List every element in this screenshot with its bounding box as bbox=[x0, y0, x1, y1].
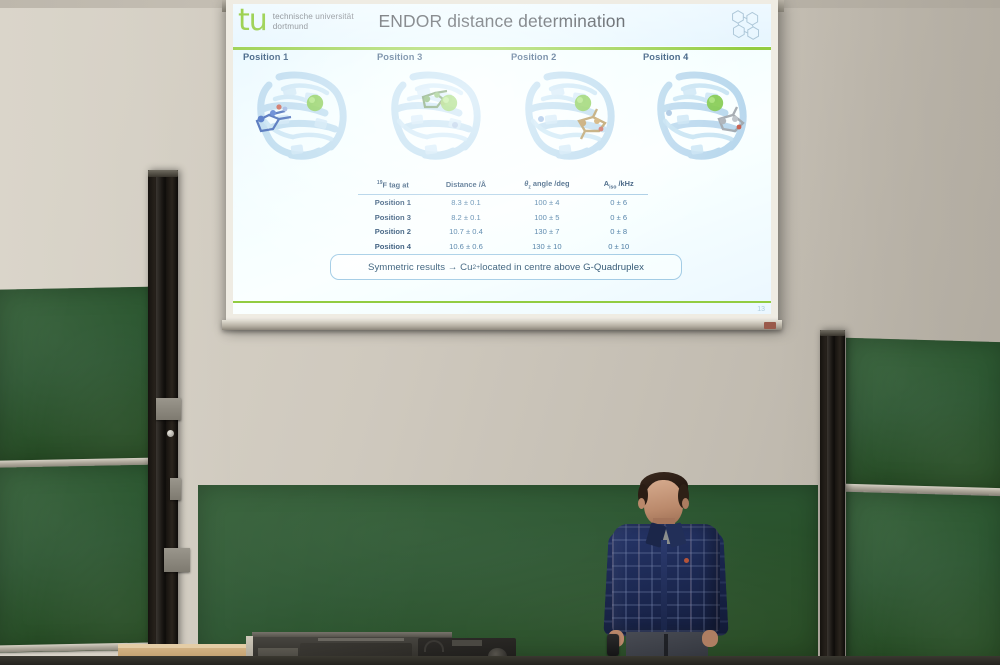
structure-panel-0: Position 1 bbox=[239, 52, 367, 172]
structure-label-1: Position 3 bbox=[377, 52, 422, 62]
column-inner-track-right bbox=[827, 330, 836, 665]
column-plate-upper-left bbox=[156, 398, 181, 420]
table-row: Position 4 10.6 ± 0.6 130 ± 10 0 ± 10 bbox=[358, 239, 648, 254]
cell-angle: 130 ± 10 bbox=[504, 239, 589, 254]
presentation-clicker bbox=[607, 634, 619, 656]
board-lift-column-right bbox=[820, 330, 845, 665]
structure-panel-3: Position 4 bbox=[639, 52, 767, 172]
cell-tag: Position 1 bbox=[358, 194, 428, 209]
column-cap-left bbox=[148, 170, 178, 177]
cell-angle: 100 ± 5 bbox=[504, 210, 589, 225]
structure-panel-1: Position 3 bbox=[373, 52, 501, 172]
av-equipment-plate bbox=[452, 640, 482, 646]
table-header-row: 19F tag at Distance /Å θz angle /deg Ais… bbox=[358, 176, 648, 194]
presenter-shirt-logo bbox=[684, 558, 689, 563]
g-quadruplex-structure-0 bbox=[239, 63, 367, 171]
slide-footer-rule bbox=[233, 301, 771, 303]
presenter-ear-right bbox=[682, 498, 689, 509]
structure-panel-2: Position 2 bbox=[507, 52, 635, 172]
slide-header-rule bbox=[233, 47, 771, 50]
column-cap-right bbox=[820, 330, 845, 336]
conclusion-callout: Symmetric results → Cu2+ located in cent… bbox=[330, 254, 682, 280]
column-plate-mid-left bbox=[170, 478, 181, 500]
presenter bbox=[598, 462, 743, 665]
screen-weight-bar bbox=[222, 320, 782, 330]
chalkboard-left-lower bbox=[0, 464, 168, 652]
presenter-ear-left bbox=[638, 498, 645, 509]
structure-label-2: Position 2 bbox=[511, 52, 556, 62]
table-header-aiso: Aiso /kHz bbox=[589, 176, 648, 194]
presenter-hand-right bbox=[702, 630, 718, 647]
chalkboard-right-upper bbox=[846, 338, 1000, 492]
lectern-strip bbox=[318, 638, 404, 641]
table-row: Position 3 8.2 ± 0.1 100 ± 5 0 ± 6 bbox=[358, 210, 648, 225]
structure-label-3: Position 4 bbox=[643, 52, 688, 62]
cell-distance: 10.6 ± 0.6 bbox=[428, 239, 505, 254]
column-knob-left bbox=[167, 430, 174, 437]
table-row: Position 1 8.3 ± 0.1 100 ± 4 0 ± 6 bbox=[358, 194, 648, 209]
table-header-angle: θz angle /deg bbox=[504, 176, 589, 194]
cell-distance: 10.7 ± 0.4 bbox=[428, 225, 505, 240]
cell-distance: 8.3 ± 0.1 bbox=[428, 194, 505, 209]
lectern-surface bbox=[252, 632, 452, 637]
g-quadruplex-structure-2 bbox=[507, 63, 635, 171]
slide-page-number: 13 bbox=[757, 306, 765, 313]
g-quadruplex-structure-3 bbox=[639, 63, 767, 171]
chalkboard-left-upper bbox=[0, 286, 168, 464]
table-row: Position 2 10.7 ± 0.4 130 ± 7 0 ± 8 bbox=[358, 225, 648, 240]
molecule-hexagon-icon bbox=[728, 8, 764, 42]
presenter-shirt-placket bbox=[661, 540, 667, 630]
table-header-distance: Distance /Å bbox=[428, 176, 505, 194]
cell-aiso: 0 ± 6 bbox=[589, 210, 648, 225]
cell-tag: Position 3 bbox=[358, 210, 428, 225]
screen-pull-tab bbox=[764, 322, 776, 329]
table-body: Position 1 8.3 ± 0.1 100 ± 4 0 ± 6 Posit… bbox=[358, 194, 648, 254]
presentation-slide: tu technische universität dortmund ENDOR… bbox=[233, 4, 771, 314]
cell-angle: 100 ± 4 bbox=[504, 194, 589, 209]
floor bbox=[0, 656, 1000, 665]
cell-aiso: 0 ± 8 bbox=[589, 225, 648, 240]
lecture-hall-scene: tu technische universität dortmund ENDOR… bbox=[0, 0, 1000, 665]
cell-tag: Position 4 bbox=[358, 239, 428, 254]
g-quadruplex-structure-1 bbox=[373, 63, 501, 171]
cell-tag: Position 2 bbox=[358, 225, 428, 240]
column-plate-lower-left bbox=[164, 548, 190, 572]
structure-panel-row: Position 1 bbox=[233, 52, 771, 174]
cell-distance: 8.2 ± 0.1 bbox=[428, 210, 505, 225]
cell-angle: 130 ± 7 bbox=[504, 225, 589, 240]
endor-results-table: 19F tag at Distance /Å θz angle /deg Ais… bbox=[358, 176, 648, 255]
chalkboard-right-lower bbox=[846, 492, 1000, 665]
cell-aiso: 0 ± 6 bbox=[589, 194, 648, 209]
table-header-tag: 19F tag at bbox=[358, 176, 428, 194]
cell-aiso: 0 ± 10 bbox=[589, 239, 648, 254]
structure-label-0: Position 1 bbox=[243, 52, 288, 62]
slide-title: ENDOR distance determination bbox=[233, 11, 771, 32]
